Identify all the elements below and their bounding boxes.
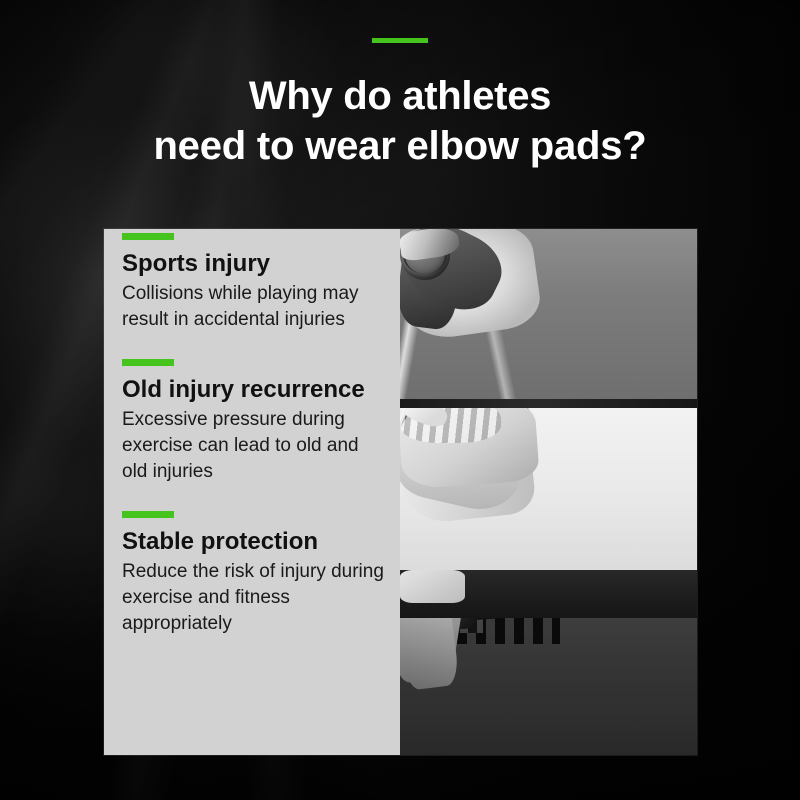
feature-body: Excessive pressure during exercise can l… — [122, 407, 384, 485]
feature-title: Stable protection — [122, 527, 384, 556]
feature-item-old-injury-recurrence: Old injury recurrence Excessive pressure… — [122, 355, 384, 485]
page-title: Why do athletes need to wear elbow pads? — [0, 71, 800, 171]
feature-accent-icon — [122, 511, 174, 518]
feature-list: Sports injury Collisions while playing m… — [104, 229, 400, 755]
photo-column — [400, 229, 697, 755]
accent-rule-icon — [372, 38, 428, 43]
photo-gym-workout — [400, 570, 697, 755]
feature-accent-icon — [122, 359, 174, 366]
header: Why do athletes need to wear elbow pads? — [0, 0, 800, 171]
feature-item-stable-protection: Stable protection Reduce the risk of inj… — [122, 507, 384, 637]
page-title-line1: Why do athletes — [0, 71, 800, 121]
page-title-line2: need to wear elbow pads? — [0, 121, 800, 171]
feature-accent-icon — [122, 233, 174, 240]
feature-item-sports-injury: Sports injury Collisions while playing m… — [122, 229, 384, 333]
photo-basketball — [400, 229, 697, 399]
feature-body: Collisions while playing may result in a… — [122, 281, 384, 333]
photo-elbow-pain — [400, 399, 697, 570]
poster: Why do athletes need to wear elbow pads?… — [0, 0, 800, 800]
feature-card: Sports injury Collisions while playing m… — [104, 229, 697, 755]
feature-body: Reduce the risk of injury during exercis… — [122, 559, 384, 637]
feature-title: Old injury recurrence — [122, 375, 384, 404]
feature-title: Sports injury — [122, 249, 384, 278]
